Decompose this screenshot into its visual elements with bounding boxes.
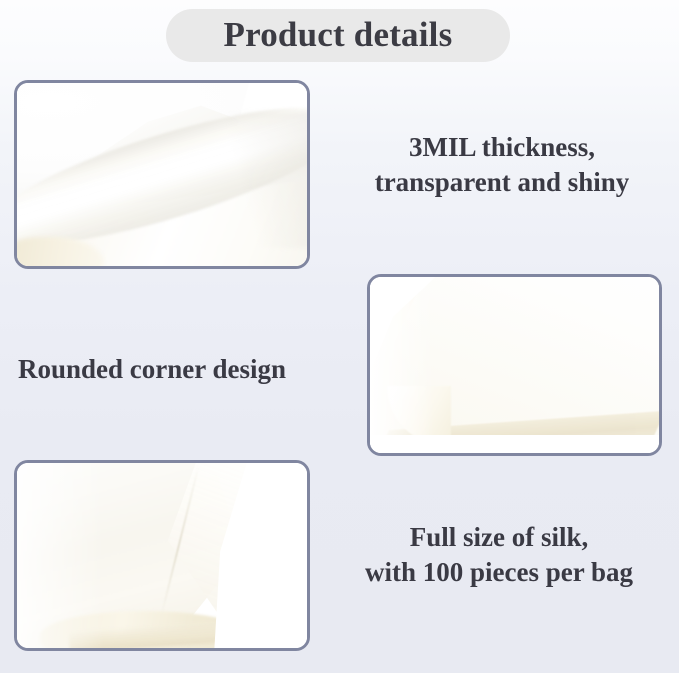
full-size-silk-sheet-photo <box>17 463 307 648</box>
feature-caption-thickness: 3MIL thickness, transparent and shiny <box>332 130 672 199</box>
feature-caption-full-size: Full size of silk, with 100 pieces per b… <box>325 520 673 589</box>
silk-left-highlight <box>17 463 104 648</box>
product-details-infographic: Product details 3MIL thickness, transpar… <box>0 0 679 673</box>
feature-image-thickness <box>14 80 310 269</box>
page-title: Product details <box>224 17 453 55</box>
feature-image-rounded-corner <box>367 274 662 456</box>
feature-caption-rounded-corner: Rounded corner design <box>18 352 354 387</box>
corner-bottom-background <box>370 435 659 453</box>
page-title-pill: Product details <box>166 9 510 62</box>
rounded-corner-stack-photo <box>370 277 659 453</box>
film-edge-shadow <box>214 112 307 247</box>
feature-image-full-size <box>14 460 310 651</box>
corner-left-fade <box>370 277 434 453</box>
transparent-film-roll-photo <box>17 83 307 266</box>
